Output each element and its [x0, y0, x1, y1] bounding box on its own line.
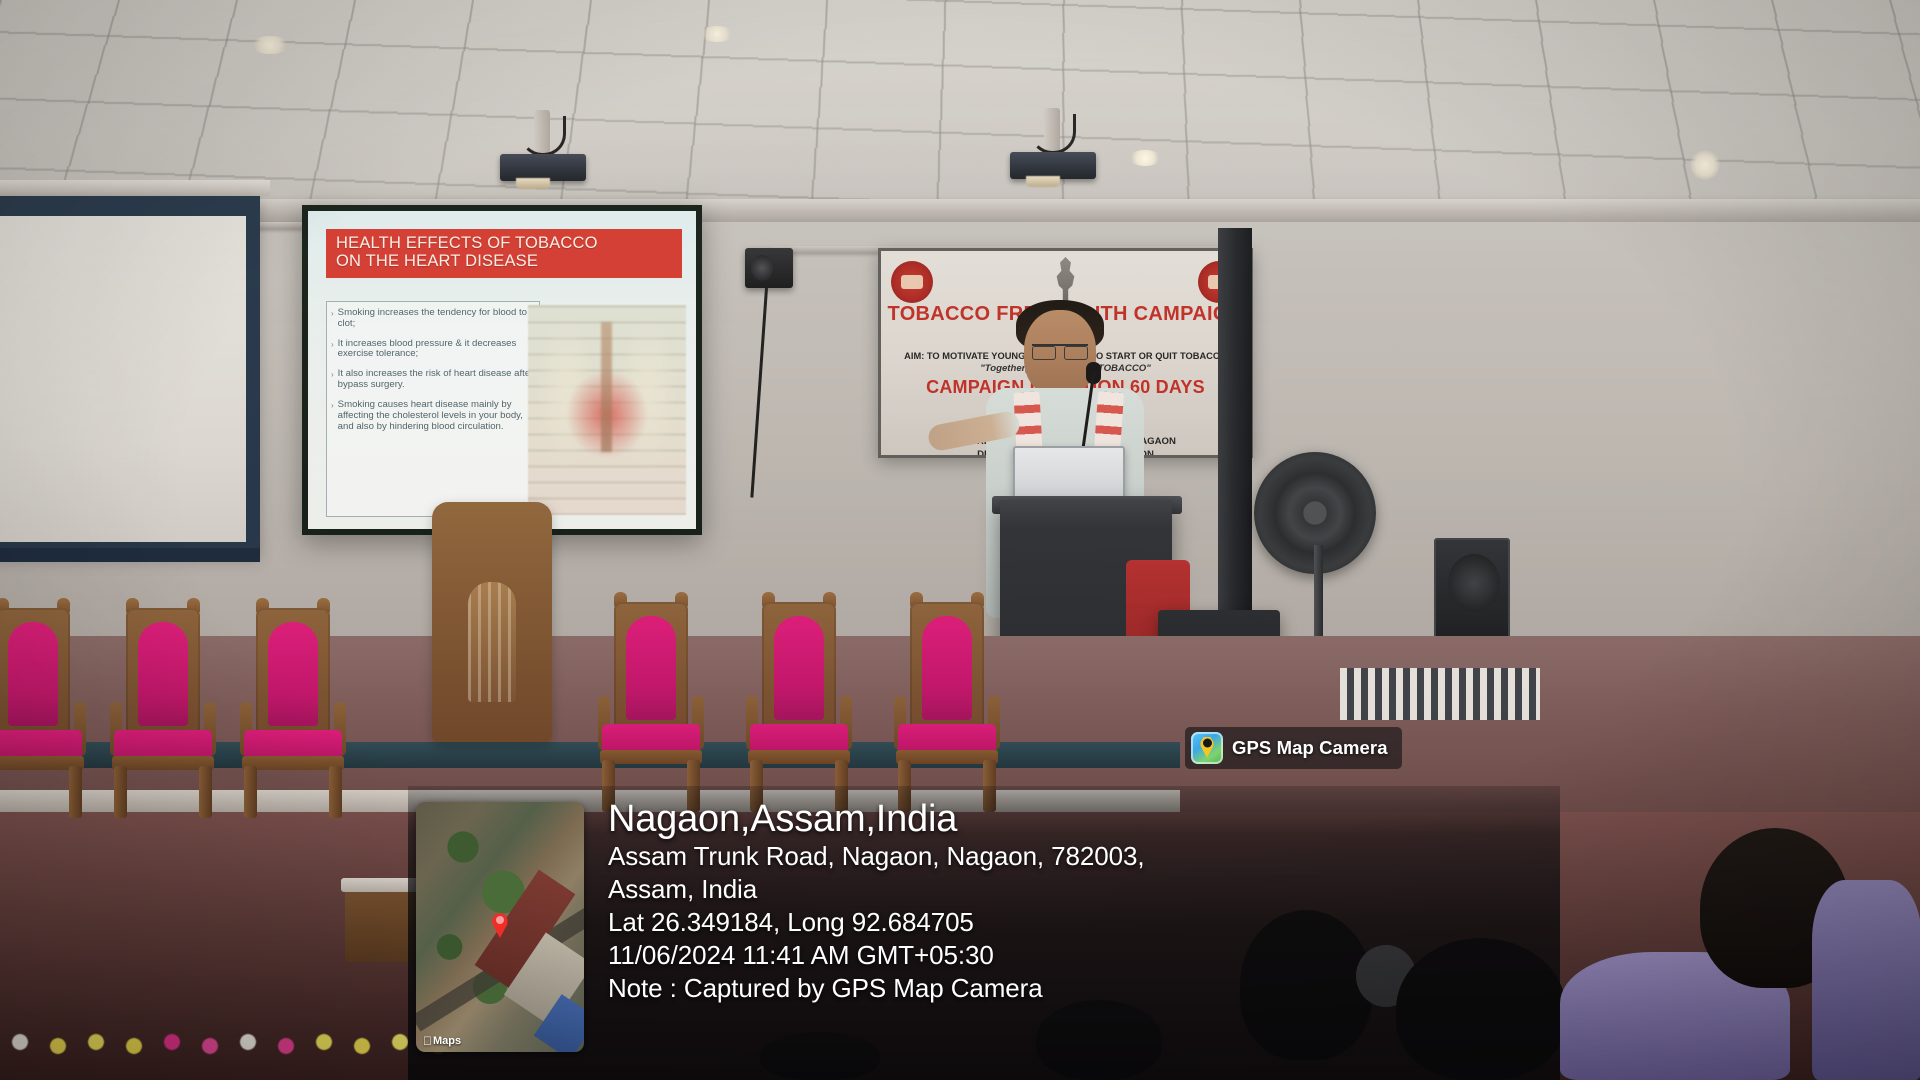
gps-location-title: Nagaon,Assam,India — [608, 800, 1560, 840]
gps-map-camera-pin-icon — [1191, 732, 1223, 764]
gps-timestamp: 11/06/2024 11:41 AM GMT+05:30 — [608, 939, 1560, 972]
slide-bullet-text: It also increases the risk of heart dise… — [338, 369, 534, 391]
apple-maps-watermark:  Maps — [423, 1035, 461, 1047]
projector-lens — [1026, 176, 1060, 187]
presentation-slide: HEALTH EFFECTS OF TOBACCO ON THE HEART D… — [308, 211, 696, 529]
stage-chair — [896, 586, 998, 812]
pin-glyph — [1199, 736, 1216, 758]
slide-bullet-text: Smoking causes heart disease mainly by a… — [338, 400, 534, 432]
ceiling-light-4 — [1690, 150, 1720, 180]
bullet-marker-icon: › — [331, 400, 334, 432]
chair-leg-right — [329, 766, 342, 818]
gps-info-panel:  Maps Nagaon,Assam,India Assam Trunk Ro… — [408, 786, 1560, 1080]
gps-badge-label: GPS Map Camera — [1232, 737, 1388, 759]
slide-bullet: › Smoking increases the tendency for blo… — [331, 308, 534, 330]
wall-amplifier-box — [1434, 538, 1510, 648]
ornate-chair-carving — [468, 582, 516, 702]
projector-body — [500, 154, 586, 181]
slide-bullet: › Smoking causes heart disease mainly by… — [331, 400, 534, 432]
stage-chair — [112, 592, 214, 818]
slide-title-line2: ON THE HEART DISEASE — [336, 252, 674, 270]
audience-head — [1812, 880, 1920, 1080]
banner-emblem-left-icon — [891, 261, 933, 303]
gps-coordinates: Lat 26.349184, Long 92.684705 — [608, 906, 1560, 939]
chair-cushion — [138, 622, 188, 726]
ceiling-projector-left — [500, 110, 600, 190]
stage-chair — [600, 586, 702, 812]
slide-bullet: › It increases blood pressure & it decre… — [331, 339, 534, 361]
projection-screen-main: HEALTH EFFECTS OF TOBACCO ON THE HEART D… — [302, 205, 702, 535]
slide-title: HEALTH EFFECTS OF TOBACCO ON THE HEART D… — [326, 229, 682, 278]
ceiling-light-1 — [250, 36, 290, 54]
gps-note: Note : Captured by GPS Map Camera — [608, 972, 1560, 1005]
chair-leg-right — [69, 766, 82, 818]
gps-info-text: Nagaon,Assam,India Assam Trunk Road, Nag… — [584, 786, 1560, 1080]
chair-cushion — [922, 616, 972, 720]
apple-logo-icon:  — [423, 1035, 432, 1047]
projector-body — [1010, 152, 1096, 179]
maps-watermark-label: Maps — [433, 1035, 461, 1047]
projection-screen-left-bar — [0, 548, 260, 562]
projector-lens — [516, 178, 550, 189]
gps-map-camera-badge: GPS Map Camera — [1185, 727, 1402, 769]
ceiling-projector-right — [1010, 108, 1110, 188]
ceiling-light-3 — [1128, 150, 1162, 166]
gps-address-line1: Assam Trunk Road, Nagaon, Nagaon, 782003… — [608, 840, 1560, 873]
chair-cushion — [626, 616, 676, 720]
stage-chair — [0, 592, 84, 818]
chair-leg-left — [244, 766, 257, 818]
stage-chair-ornate-center — [432, 502, 552, 802]
banner-national-emblem-icon — [1049, 257, 1083, 303]
slide-bullet-text: It increases blood pressure & it decreas… — [338, 339, 534, 361]
chair-cushion — [774, 616, 824, 720]
chair-leg-left — [114, 766, 127, 818]
projection-screen-rail-left — [0, 180, 270, 196]
chair-cushion — [8, 622, 58, 726]
bullet-marker-icon: › — [331, 339, 334, 361]
projector-cable — [520, 116, 566, 156]
ceiling-light-2 — [700, 26, 734, 42]
stage-chair — [242, 592, 344, 818]
slide-title-line1: HEALTH EFFECTS OF TOBACCO — [336, 234, 674, 252]
gps-address-line2: Assam, India — [608, 873, 1560, 906]
photo-canvas: HEALTH EFFECTS OF TOBACCO ON THE HEART D… — [0, 0, 1920, 1080]
gps-map-thumbnail[interactable]:  Maps — [416, 802, 584, 1052]
checked-table-cloth — [1340, 668, 1540, 720]
bullet-marker-icon: › — [331, 308, 334, 330]
projector-cable — [1030, 114, 1076, 154]
slide-anatomy-image — [528, 305, 686, 515]
speaker-glasses-icon — [1032, 344, 1088, 356]
chair-cushion — [268, 622, 318, 726]
projection-screen-left — [0, 196, 260, 556]
chair-leg-right — [199, 766, 212, 818]
slide-bullet: › It also increases the risk of heart di… — [331, 369, 534, 391]
slide-bullet-list: › Smoking increases the tendency for blo… — [326, 301, 540, 517]
bullet-marker-icon: › — [331, 369, 334, 391]
slide-bullet-text: Smoking increases the tendency for blood… — [338, 308, 534, 330]
stage-chair — [748, 586, 850, 812]
wall-speaker — [745, 248, 793, 288]
